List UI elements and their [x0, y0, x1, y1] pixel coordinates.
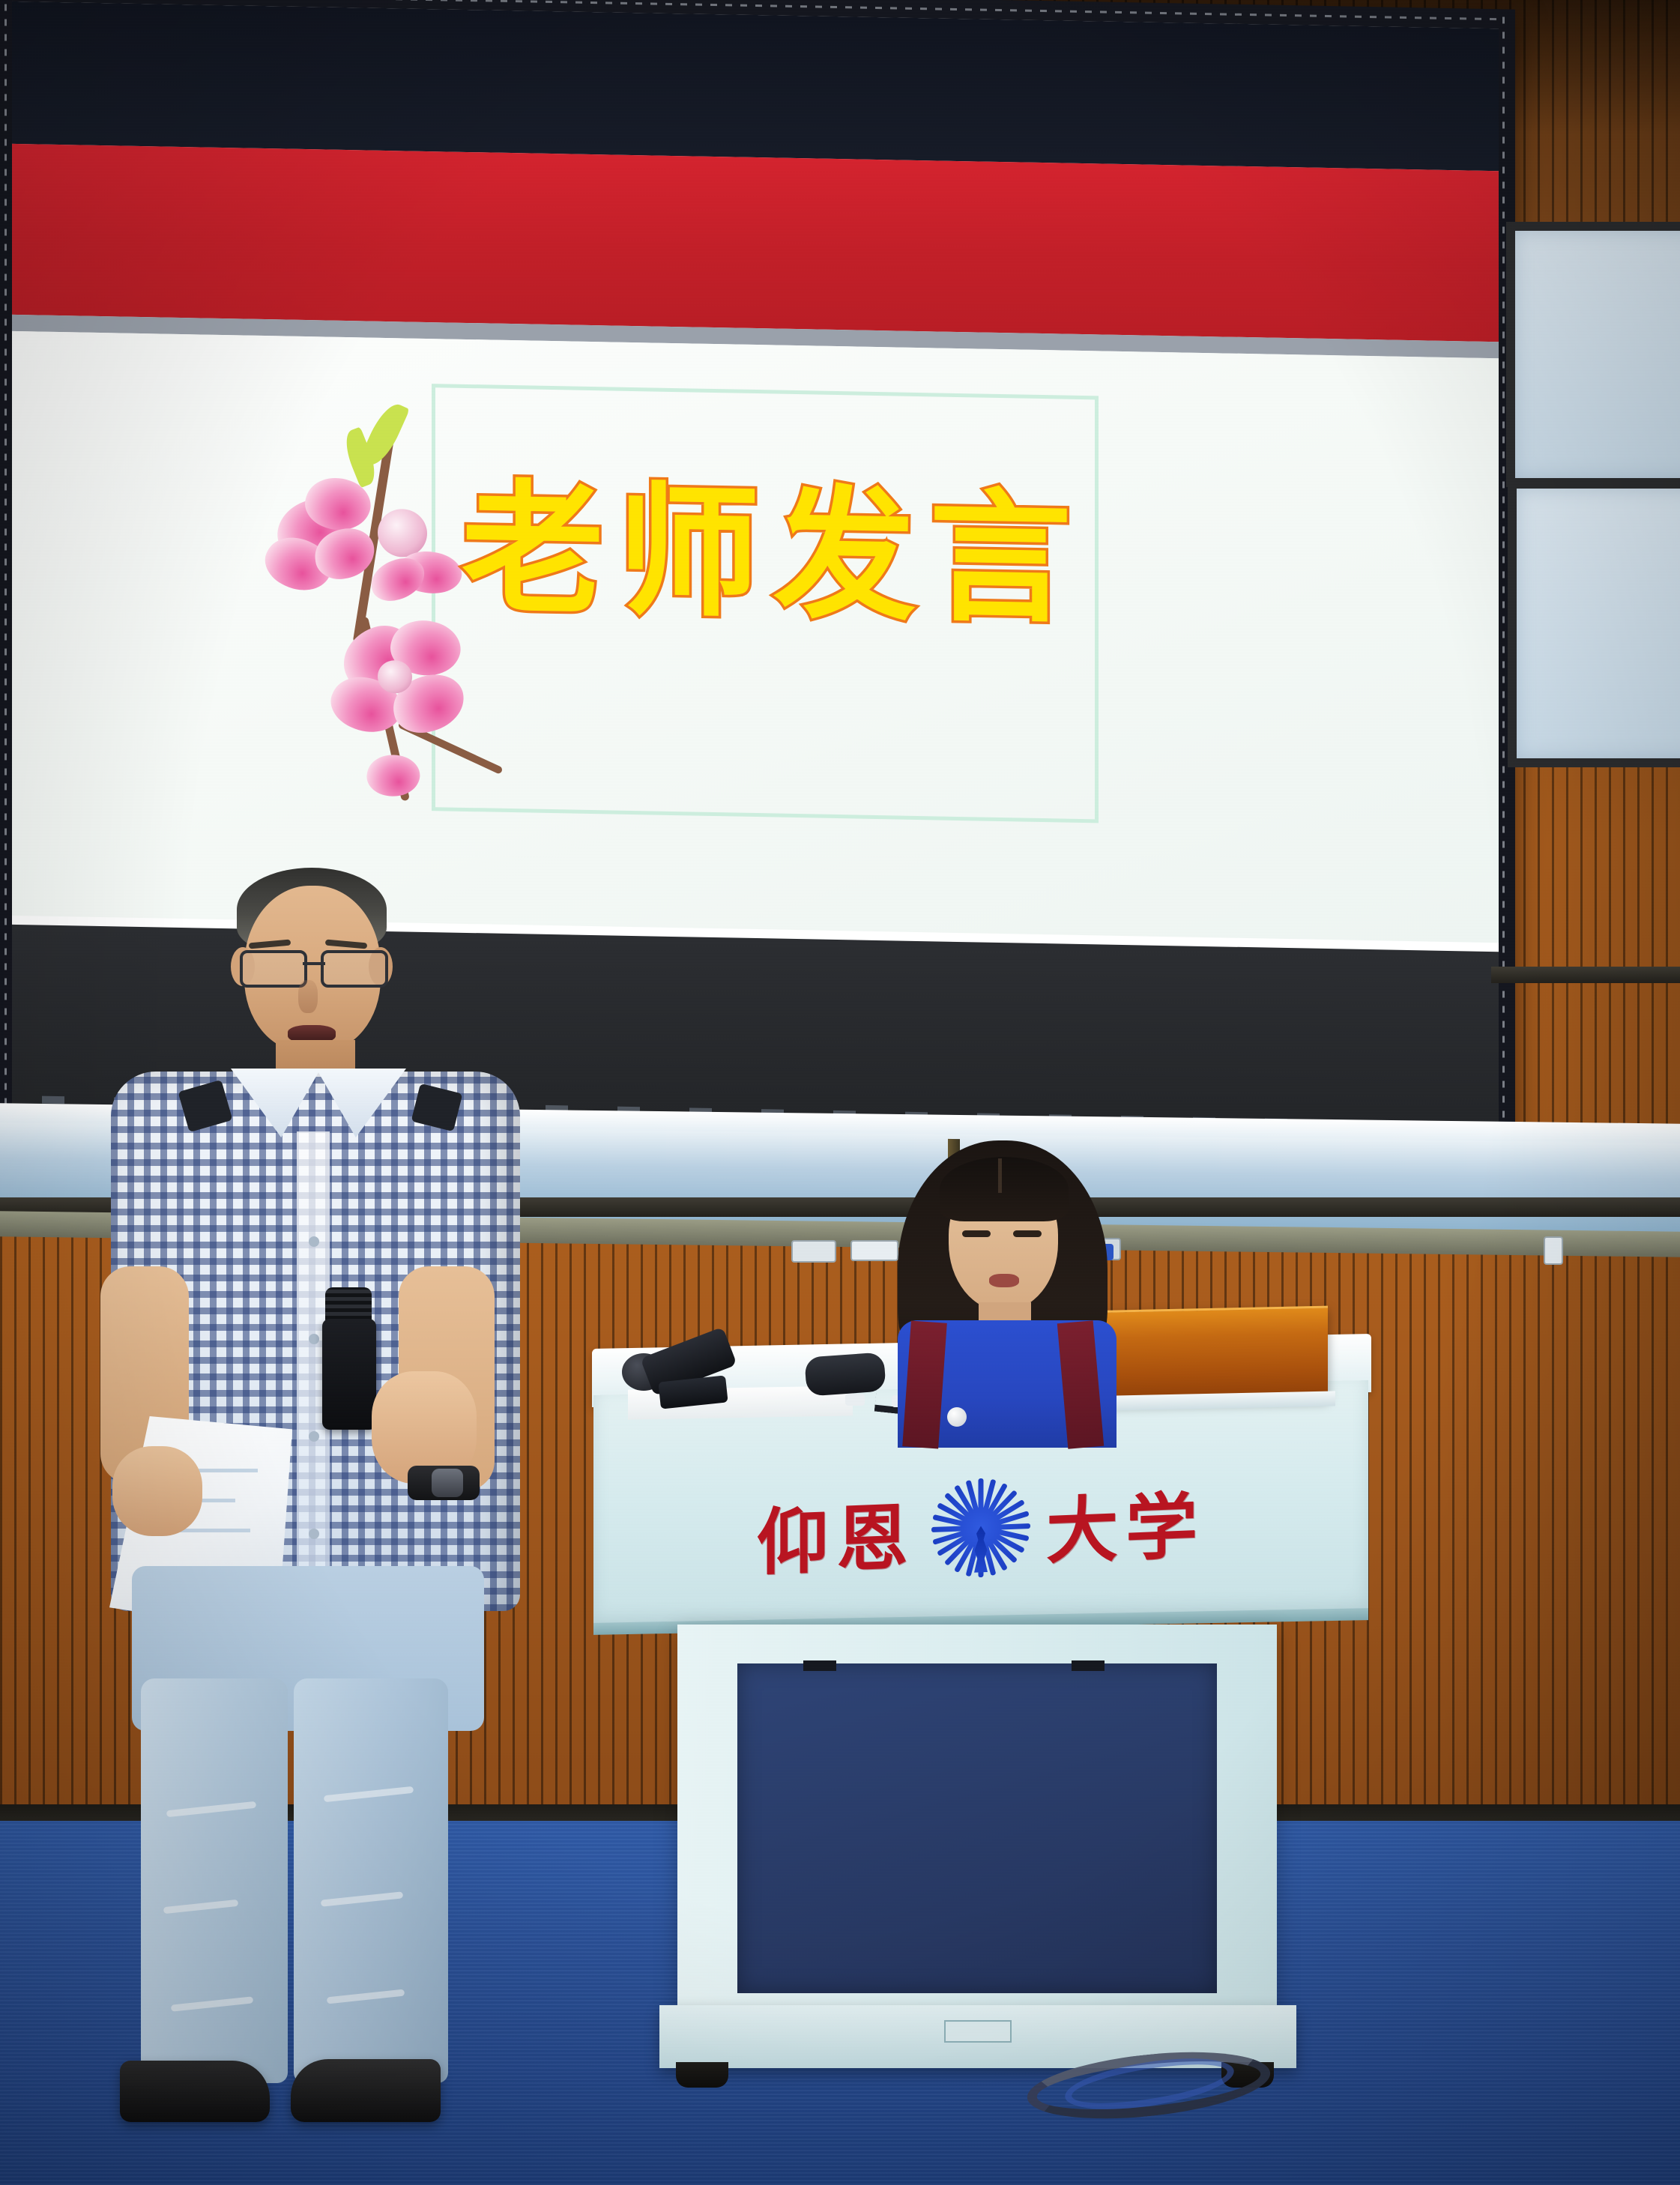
whiteboard-panel-upper — [1506, 222, 1680, 487]
eraser-icon — [791, 1240, 836, 1263]
shirt-button — [309, 1236, 319, 1247]
person-speaker — [105, 847, 532, 2121]
panel-clip — [1072, 1660, 1105, 1671]
watch-face — [432, 1469, 463, 1497]
hair-part — [998, 1158, 1002, 1193]
shoe-left — [120, 2061, 270, 2122]
small-device — [845, 1394, 865, 1406]
trouser-leg-left — [141, 1678, 288, 2083]
screen-seam-left — [4, 0, 7, 1121]
flower-petal — [364, 750, 423, 801]
trouser-leg-right — [294, 1678, 448, 2083]
eye — [1013, 1230, 1042, 1237]
lectern-dark-panel — [737, 1663, 1217, 1993]
lectern: 仰恩 — [592, 1341, 1371, 2106]
shoe-right — [291, 2059, 441, 2122]
slide-band-red — [12, 144, 1499, 342]
eyeglasses-icon — [237, 950, 391, 983]
panel-clip — [803, 1660, 836, 1671]
hand-left — [112, 1446, 202, 1536]
lectern-latch — [944, 2020, 1012, 2043]
photo-scene: 老师发言 仰恩 — [0, 0, 1680, 2185]
slide-title: 老师发言 — [462, 478, 1076, 632]
whiteboard-panel-lower — [1508, 480, 1680, 767]
flower-center — [378, 660, 412, 694]
flower-bud — [378, 509, 427, 557]
wall-rail — [1491, 967, 1680, 983]
glasses-bridge — [303, 962, 325, 965]
university-emblem-icon — [935, 1472, 1027, 1585]
strap-button — [947, 1407, 967, 1427]
slide-band-dark — [12, 1, 1499, 171]
lens — [321, 950, 388, 988]
shirt-button — [309, 1334, 319, 1344]
university-name-left: 仰恩 — [757, 1478, 916, 1589]
university-name-right: 大学 — [1046, 1467, 1205, 1577]
marker-icon — [1544, 1236, 1563, 1265]
lens — [240, 950, 307, 988]
hair-fringe — [940, 1157, 1069, 1221]
shirt-button — [309, 1529, 319, 1539]
mouth — [989, 1274, 1019, 1287]
desk-microphone — [804, 1352, 886, 1396]
eye — [962, 1230, 991, 1237]
person-laptop-operator — [884, 1131, 1131, 1446]
lectern-branding: 仰恩 — [593, 1464, 1368, 1592]
caster-wheel — [676, 2062, 728, 2088]
nose — [298, 980, 318, 1013]
shirt-button — [309, 1431, 319, 1442]
handheld-microphone — [322, 1319, 376, 1430]
